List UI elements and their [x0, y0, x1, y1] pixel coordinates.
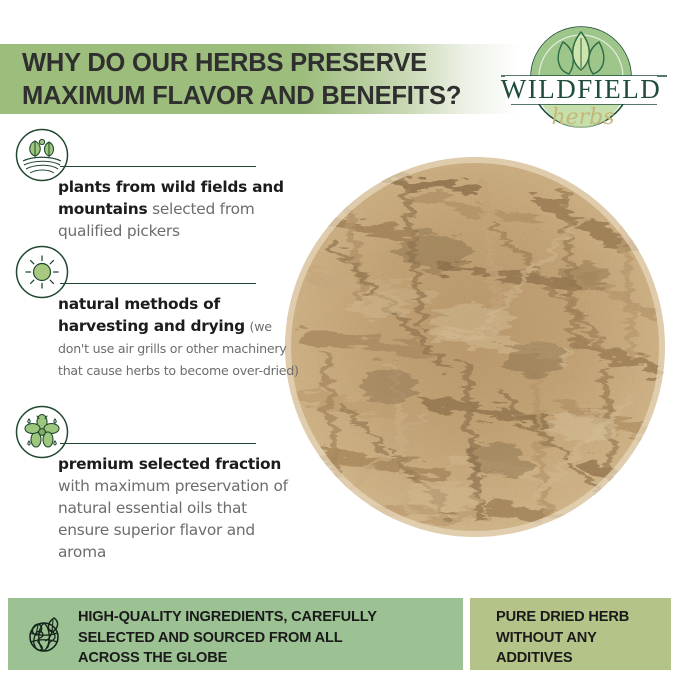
- header-banner: WHY DO OUR HERBS PRESERVE MAXIMUM FLAVOR…: [0, 0, 679, 140]
- banner-pure-dried-herb: PURE DRIED HERB WITHOUT ANY ADDITIVES: [470, 598, 671, 670]
- product-photo: [284, 156, 666, 538]
- brand-logo: WILDFIELD herbs: [495, 18, 667, 136]
- feature-divider: [60, 283, 256, 284]
- sun-icon: [15, 245, 69, 299]
- svg-text:herbs: herbs: [551, 105, 614, 130]
- page-title: WHY DO OUR HERBS PRESERVE MAXIMUM FLAVOR…: [22, 47, 492, 113]
- feature-text: premium selected fraction with maximum p…: [58, 453, 300, 563]
- banner-left-text: HIGH-QUALITY INGREDIENTS, CAREFULLY SELE…: [78, 607, 458, 669]
- feature-bold-text: premium selected fraction: [58, 455, 281, 473]
- globe-leaf-icon: [22, 610, 70, 658]
- svg-text:WILDFIELD: WILDFIELD: [501, 74, 661, 104]
- leaf-droplets-icon: [15, 405, 69, 459]
- feature-text: natural methods of harvesting and drying…: [58, 293, 300, 381]
- banner-high-quality-ingredients: HIGH-QUALITY INGREDIENTS, CAREFULLY SELE…: [8, 598, 463, 670]
- feature-divider: [60, 166, 256, 167]
- feature-bold-text: natural methods of harvesting and drying: [58, 295, 245, 335]
- feature-rest-text: with maximum preservation of natural ess…: [58, 477, 288, 561]
- plants-in-field-icon: [15, 128, 69, 182]
- feature-text: plants from wild fields and mountains se…: [58, 176, 300, 242]
- feature-divider: [60, 443, 256, 444]
- banner-right-text: PURE DRIED HERB WITHOUT ANY ADDITIVES: [496, 607, 671, 669]
